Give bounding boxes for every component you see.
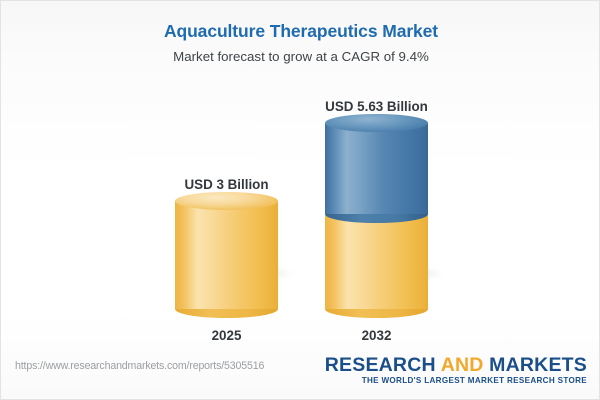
logo-tagline: THE WORLD'S LARGEST MARKET RESEARCH STOR… [325, 375, 587, 386]
bar-value-label-2025: USD 3 Billion [184, 178, 268, 191]
bar-segment-base-2032 [325, 214, 428, 309]
bar-value-label-2032: USD 5.63 Billion [325, 100, 428, 113]
cylinder-body [175, 201, 278, 309]
footer: https://www.researchandmarkets.com/repor… [1, 344, 600, 399]
logo-word-markets: MARKETS [489, 354, 587, 376]
logo-wordmark: RESEARCH AND MARKETS [325, 355, 587, 375]
bar-segment-growth-2032 [325, 123, 428, 214]
cylinder-body [325, 214, 428, 309]
logo-word-and: AND [441, 354, 484, 376]
cylinder-cap-ellipse [175, 192, 278, 210]
cylinder-cap-ellipse [325, 114, 428, 132]
bar-segment-base-2025 [175, 201, 278, 309]
bar-chart-plot: USD 3 Billion 2025 USD 5.63 Billion [1, 1, 600, 346]
bar-category-label-2032: 2032 [362, 329, 392, 342]
report-url[interactable]: https://www.researchandmarkets.com/repor… [15, 360, 264, 372]
research-and-markets-logo[interactable]: RESEARCH AND MARKETS THE WORLD'S LARGEST… [325, 355, 587, 386]
bar-category-label-2025: 2025 [212, 329, 242, 342]
logo-word-research: RESEARCH [325, 354, 436, 376]
market-infographic: Aquaculture Therapeutics Market Market f… [0, 0, 600, 400]
cylinder-body [325, 123, 428, 214]
